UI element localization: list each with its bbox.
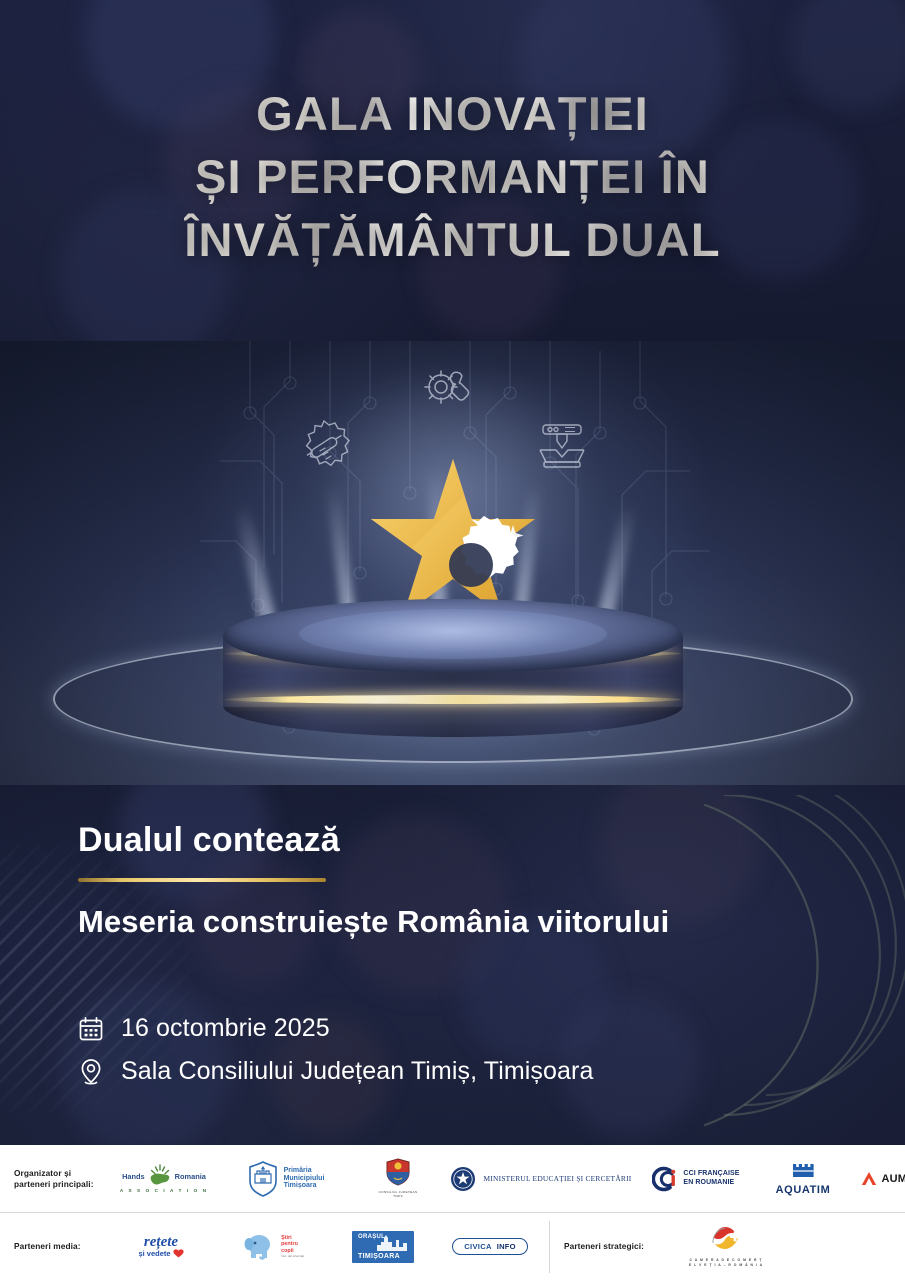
cjt-crest-icon [386,1158,410,1186]
logo-stiri-pentru-copii[interactable]: Știri pentru copii mici, dar informați [216,1233,331,1261]
ministry-seal-icon [450,1166,476,1192]
logo-cci-francaise[interactable]: CCI FRANÇAISE EN ROUMANIE [636,1166,756,1192]
event-venue-row: Sala Consiliului Județean Timiș, Timișoa… [78,1057,838,1086]
cci-icon [652,1166,678,1192]
ccer-emblem-icon [711,1225,741,1253]
poster-title: GALA INOVAȚIEI ȘI PERFORMANȚEI ÎN ÎNVĂȚĂ… [0,0,905,341]
logo-retete-si-vedete[interactable]: rețete și vedete [106,1235,216,1258]
media-partners-label: Parteneri media: [14,1241,106,1252]
location-pin-icon [78,1058,104,1086]
podium [223,599,683,749]
calendar-icon [78,1016,104,1042]
headline-primary: Dualul contează [78,821,838,860]
elephant-icon [243,1233,277,1261]
headline-secondary: Meseria construiește România viitorului [78,904,838,940]
partners-footer: Organizator și parteneri principali: Han… [0,1145,905,1280]
event-poster: GALA INOVAȚIEI ȘI PERFORMANȚEI ÎN ÎNVĂȚĂ… [0,0,905,1280]
aumovio-mark-icon [861,1171,877,1186]
media-strategic-partners-row: Parteneri media: rețete și vedete [0,1213,905,1280]
aquatim-crown-icon [791,1162,815,1179]
romania-map-icon [147,1164,173,1188]
gold-divider [78,878,326,882]
logo-aquatim[interactable]: AQUATIM [756,1162,850,1196]
hero-stage-image [0,341,905,785]
timisoara-skyline-icon [377,1235,411,1251]
info-band: Dualul contează Meseria construiește Rom… [0,785,905,1145]
logo-orasul-timisoara[interactable]: ORAȘUL TIMIȘOARA [331,1231,435,1263]
primaria-crest-icon [248,1161,278,1197]
title-line-3: ÎNVĂȚĂMÂNTUL DUAL [184,209,720,272]
logo-ministerul-educatiei[interactable]: MINISTERUL EDUCAȚIEI ȘI CERCETĂRII [446,1166,636,1192]
main-partners-row: Organizator și parteneri principali: Han… [0,1145,905,1213]
logo-civica-info[interactable]: CIVICA INFO [435,1238,545,1255]
title-line-1: GALA INOVAȚIEI [256,83,649,146]
event-venue: Sala Consiliului Județean Timiș, Timișoa… [121,1057,593,1086]
logo-aumovio[interactable]: AUMOVIO [850,1171,905,1186]
title-band: GALA INOVAȚIEI ȘI PERFORMANȚEI ÎN ÎNVĂȚĂ… [0,0,905,341]
retete-heart-icon [173,1249,184,1258]
logo-primaria-timisoara[interactable]: Primăria Municipiului Timișoara [222,1161,350,1197]
main-partners-label: Organizator și parteneri principali: [14,1168,106,1190]
logo-consiliul-judetean-timis[interactable]: CONSILIUL JUDEȚEAN TIMIȘ [350,1158,446,1198]
title-line-2: ȘI PERFORMANȚEI ÎN [195,146,710,209]
event-date: 16 octombrie 2025 [121,1014,330,1043]
logo-camera-comert-elvetia-romania[interactable]: C A M E R A D E C O M E R Ț E L V E Ț I … [656,1225,796,1268]
event-details: 16 octombrie 2025 Sala Consiliului Județ… [78,1014,838,1086]
logo-hands-romania[interactable]: Hands Romania A S S O C I A T I O N [106,1164,222,1193]
event-date-row: 16 octombrie 2025 [78,1014,838,1043]
strategic-partners-label: Parteneri strategici: [564,1241,656,1252]
